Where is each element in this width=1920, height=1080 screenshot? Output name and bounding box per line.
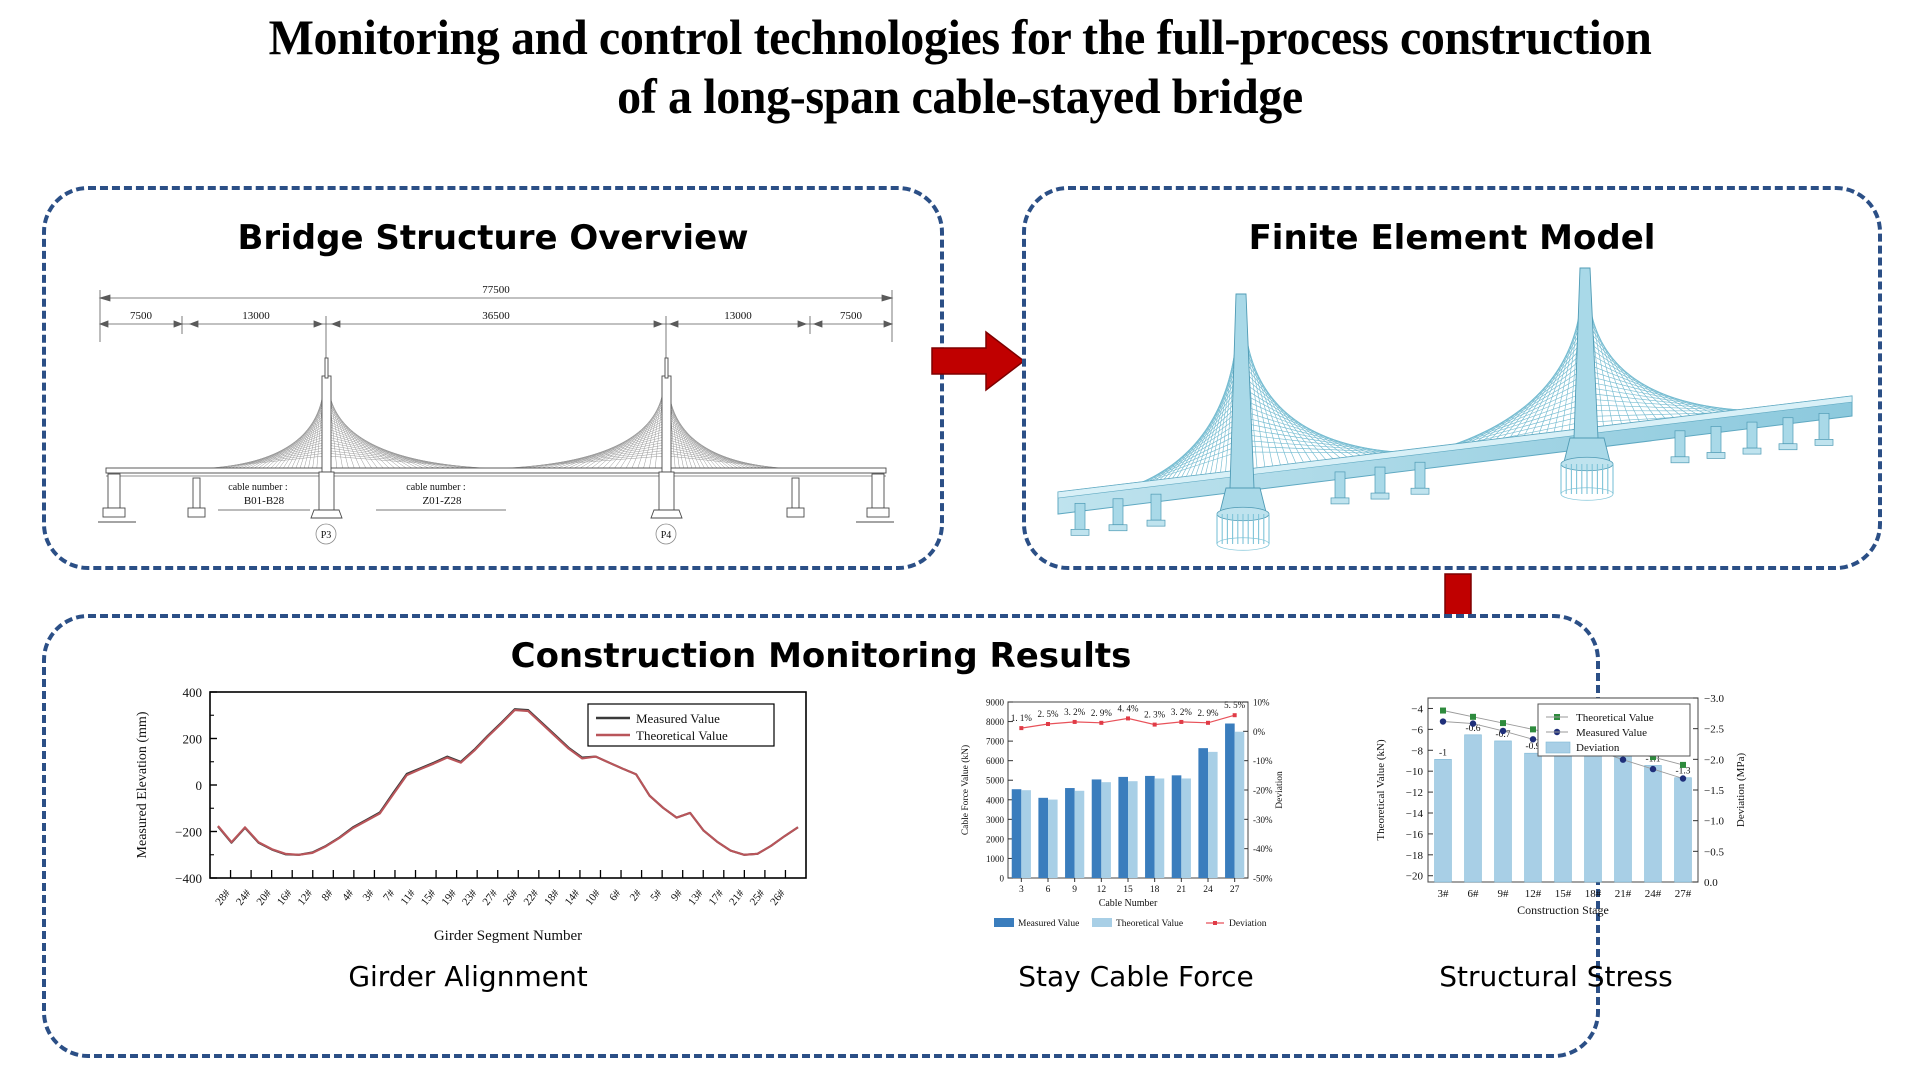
chart-girder-alignment: −400−2000200400Measured Elevation (mm)28…: [118, 682, 818, 950]
bridge-elevation-drawing: 77500 7500 13000 36500 13000 7500: [76, 272, 916, 552]
stress-xtick: 24#: [1645, 888, 1662, 900]
stress-bar-deviation: [1615, 753, 1632, 882]
dim-span-5: 7500: [840, 310, 863, 322]
stress-xtick: 27#: [1675, 888, 1692, 900]
girder-xtick: 7#: [381, 887, 398, 903]
cable-bar-measured: [1092, 779, 1102, 878]
stress-marker-theoretical: [1680, 762, 1686, 768]
stress-bar-deviation: [1495, 741, 1512, 882]
panel-construction-monitoring-results: Construction Monitoring Results −400−200…: [42, 614, 1600, 1058]
girder-xtick: 18#: [542, 887, 562, 908]
cable-bar-theoretical: [1101, 782, 1111, 878]
cable-ylabel: Cable Force Value (kN): [960, 745, 971, 835]
bridge-deck: [106, 468, 886, 476]
cable-xtick: 18: [1150, 885, 1160, 895]
cable-note-right-line1: cable number :: [406, 482, 465, 493]
cable-deviation-label: 3. 2%: [1064, 707, 1086, 717]
cable-deviation-label: 2. 9%: [1091, 708, 1113, 718]
poster-root: Monitoring and control technologies for …: [0, 0, 1920, 1080]
cable-bar-measured: [1012, 789, 1022, 878]
dim-span-1: 7500: [130, 310, 153, 322]
cable-xtick: 6: [1046, 885, 1051, 895]
girder-xtick: 16#: [275, 887, 295, 908]
finite-element-model-render: [1040, 256, 1872, 556]
cable-legend-label-theoretical: Theoretical Value: [1116, 919, 1183, 929]
cable-ytick: 0: [1000, 874, 1005, 884]
panel-bridge-structure-overview: Bridge Structure Overview: [42, 186, 944, 570]
stress-marker-theoretical: [1470, 714, 1476, 720]
cable-ytick: 1000: [986, 854, 1005, 864]
girder-xtick: 20#: [254, 887, 274, 908]
cable-note-right-line2: Z01-Z28: [422, 495, 462, 507]
stress-bar-deviation: [1555, 741, 1572, 882]
pier-tag-right-label: P4: [661, 530, 672, 541]
stress-y2label: Deviation (MPa): [1735, 753, 1747, 828]
cable-deviation-marker: [1019, 726, 1023, 730]
cable-xlabel: Cable Number: [1099, 898, 1158, 909]
girder-xtick: 26#: [768, 887, 788, 908]
girder-ytick: 400: [183, 685, 203, 700]
caption-structural-stress: Structural Stress: [1346, 960, 1766, 993]
stress-bar-deviation: [1525, 753, 1542, 882]
stress-marker-measured: [1680, 775, 1686, 781]
cable-deviation-label: 2. 5%: [1038, 709, 1060, 719]
fem-pile-group-left: [1217, 507, 1269, 550]
cable-deviation-label: 2. 9%: [1198, 708, 1220, 718]
cable-bar-theoretical: [1208, 752, 1218, 878]
caption-stay-cable-force: Stay Cable Force: [926, 960, 1346, 993]
dim-total-span: 77500: [482, 284, 510, 296]
cable-legend-swatch-theoretical: [1092, 918, 1112, 927]
stress-y2tick: −1.0: [1704, 816, 1724, 828]
cable-bar-theoretical: [1235, 732, 1245, 878]
stress-ytick: −12: [1406, 787, 1423, 799]
stress-legend-label-deviation: Deviation: [1576, 742, 1620, 754]
stress-marker-measured: [1470, 720, 1476, 726]
stress-y2tick: 0.0: [1704, 877, 1718, 889]
stress-xtick: 18#: [1585, 888, 1602, 900]
stress-xtick: 15#: [1555, 888, 1572, 900]
pier-tag-left: P3: [316, 524, 336, 544]
girder-xtick: 10#: [583, 887, 603, 908]
cable-y2tick: -20%: [1253, 786, 1273, 796]
cable-bar-theoretical: [1155, 778, 1165, 878]
fem-pile-group-right: [1561, 457, 1613, 500]
cable-xtick: 3: [1019, 885, 1024, 895]
cable-deviation-marker: [1153, 723, 1157, 727]
cable-bar-theoretical: [1075, 791, 1085, 878]
stress-ytick: −16: [1406, 829, 1424, 841]
girder-ytick: 0: [196, 778, 203, 793]
fem-deck: [1058, 396, 1852, 514]
girder-xtick: 27#: [480, 887, 500, 908]
cable-ytick: 7000: [986, 737, 1005, 747]
panel-fem-title: Finite Element Model: [1026, 218, 1878, 258]
girder-xtick: 23#: [460, 887, 480, 908]
cable-xtick: 9: [1072, 885, 1077, 895]
stress-bar-label: -1: [1439, 748, 1447, 758]
girder-xtick: 17#: [707, 887, 727, 908]
cable-note-left-line2: B01-B28: [244, 495, 285, 507]
cable-ytick: 3000: [986, 815, 1005, 825]
cable-bar-measured: [1118, 777, 1128, 878]
girder-xtick: 9#: [669, 887, 686, 903]
stress-legend-label-theoretical: Theoretical Value: [1576, 712, 1654, 724]
cable-deviation-marker: [1099, 721, 1103, 725]
stress-bar-deviation: [1435, 759, 1452, 882]
cable-deviation-label: 2. 3%: [1144, 710, 1166, 720]
stress-ytick: −8: [1411, 745, 1423, 757]
girder-xtick: 24#: [234, 887, 254, 908]
cable-deviation-label: 5. 5%: [1224, 700, 1246, 710]
cable-deviation-marker: [1046, 722, 1050, 726]
stress-ytick: −14: [1406, 808, 1424, 820]
cable-ytick: 2000: [986, 834, 1005, 844]
girder-xtick: 3#: [361, 887, 378, 903]
stress-marker-theoretical: [1440, 708, 1446, 714]
stress-xlabel: Construction Stage: [1517, 903, 1609, 917]
cable-legend-label-deviation: Deviation: [1229, 919, 1267, 929]
stress-xtick: 12#: [1525, 888, 1542, 900]
stress-ytick: −20: [1406, 871, 1424, 883]
arrow-right-icon: [930, 328, 1026, 394]
stress-marker-measured: [1500, 728, 1506, 734]
cable-deviation-marker: [1073, 720, 1077, 724]
girder-xtick: 14#: [563, 887, 583, 908]
girder-xtick: 19#: [439, 887, 459, 908]
chart-stay-cable-force: 0100020003000400050006000700080009000Cab…: [956, 682, 1316, 950]
cable-bar-theoretical: [1021, 790, 1031, 878]
cable-ytick: 6000: [986, 756, 1005, 766]
cable-y2tick: -40%: [1253, 844, 1273, 854]
dim-span-4: 13000: [724, 310, 752, 322]
cable-bar-measured: [1145, 776, 1155, 878]
cable-legend-label-measured: Measured Value: [1018, 919, 1079, 929]
girder-xtick: 12#: [296, 887, 316, 908]
stress-ylabel: Theoretical Value (kN): [1375, 739, 1387, 841]
stress-y2tick: −2.0: [1704, 754, 1724, 766]
cable-bar-measured: [1065, 788, 1075, 878]
cable-note-left-line1: cable number :: [228, 482, 287, 493]
stress-y2tick: −2.5: [1704, 724, 1724, 736]
girder-xtick: 13#: [686, 887, 706, 908]
pier-tag-right: P4: [656, 524, 676, 544]
cable-ytick: 5000: [986, 776, 1005, 786]
pier-tag-left-label: P3: [321, 530, 332, 541]
cable-deviation-label: 3. 2%: [1171, 707, 1193, 717]
cable-y2label: Deviation: [1275, 771, 1285, 809]
panel-bridge-title: Bridge Structure Overview: [46, 218, 940, 258]
cable-deviation-marker: [1233, 713, 1237, 717]
girder-xtick: 4#: [340, 887, 357, 903]
cable-y2tick: -50%: [1253, 874, 1273, 884]
panel-finite-element-model: Finite Element Model: [1022, 186, 1882, 570]
stress-marker-measured: [1530, 736, 1536, 742]
cable-xtick: 12: [1097, 885, 1107, 895]
cable-xtick: 21: [1177, 885, 1187, 895]
cable-legend-swatch-measured: [994, 918, 1014, 927]
cable-ytick: 8000: [986, 717, 1005, 727]
page-title-line1: Monitoring and control technologies for …: [38, 8, 1881, 67]
stress-ytick: −10: [1406, 766, 1424, 778]
girder-legend-label: Theoretical Value: [636, 728, 728, 743]
stress-xtick: 21#: [1615, 888, 1632, 900]
page-title: Monitoring and control technologies for …: [38, 8, 1881, 126]
stress-ytick: −6: [1411, 724, 1423, 736]
stress-marker-measured: [1440, 718, 1446, 724]
cable-xtick: 15: [1123, 885, 1133, 895]
cable-y2tick: 10%: [1253, 698, 1270, 708]
girder-xtick: 22#: [522, 887, 542, 908]
girder-ytick: 200: [183, 732, 203, 747]
cable-xtick: 24: [1203, 885, 1213, 895]
stress-marker-theoretical: [1500, 720, 1506, 726]
girder-xtick: 6#: [607, 887, 624, 903]
cable-deviation-marker: [1206, 721, 1210, 725]
girder-xtick: 8#: [319, 887, 336, 903]
stress-legend-label-measured: Measured Value: [1576, 727, 1647, 739]
cable-bar-theoretical: [1128, 781, 1138, 878]
stress-bar-deviation: [1585, 741, 1602, 882]
stress-xtick: 9#: [1498, 888, 1510, 900]
cable-bar-measured: [1225, 724, 1235, 878]
girder-xtick: 2#: [628, 887, 645, 903]
cable-deviation-label: 1. 1%: [1011, 713, 1033, 723]
stress-xtick: 3#: [1438, 888, 1450, 900]
panel-results-title: Construction Monitoring Results: [46, 636, 1596, 676]
stress-ytick: −4: [1411, 703, 1423, 715]
cable-deviation-label: 4. 4%: [1118, 703, 1140, 713]
girder-legend-label: Measured Value: [636, 711, 720, 726]
cable-deviation-marker: [1126, 716, 1130, 720]
cable-y2tick: -30%: [1253, 815, 1273, 825]
girder-xlabel: Girder Segment Number: [434, 928, 582, 944]
cable-ytick: 4000: [986, 795, 1005, 805]
fem-approach-piers: [1071, 413, 1833, 535]
page-title-line2: of a long-span cable-stayed bridge: [38, 67, 1881, 126]
stress-y2tick: −0.5: [1704, 846, 1724, 858]
girder-xtick: 28#: [213, 887, 233, 908]
girder-xtick: 25#: [748, 887, 768, 908]
girder-xtick: 21#: [727, 887, 747, 908]
cable-bar-measured: [1172, 775, 1182, 878]
cable-bar-measured: [1038, 798, 1048, 878]
stress-xtick: 6#: [1468, 888, 1480, 900]
dim-span-2: 13000: [242, 310, 270, 322]
caption-girder-alignment: Girder Alignment: [118, 960, 818, 993]
stress-marker-measured: [1650, 766, 1656, 772]
cable-y2tick: 0%: [1253, 727, 1266, 737]
girder-ylabel: Measured Elevation (mm): [135, 711, 150, 858]
cable-y2tick: -10%: [1253, 756, 1273, 766]
stress-ytick: −18: [1406, 850, 1424, 862]
stress-marker-theoretical: [1530, 726, 1536, 732]
cable-deviation-marker: [1179, 720, 1183, 724]
girder-ytick: −200: [175, 825, 202, 840]
bridge-piers: [103, 474, 889, 517]
cable-bar-theoretical: [1181, 778, 1191, 878]
cable-bar-measured: [1198, 748, 1208, 878]
dim-span-3: 36500: [482, 310, 510, 322]
stress-y2tick: −3.0: [1704, 693, 1724, 705]
girder-xtick: 26#: [501, 887, 521, 908]
girder-ytick: −400: [175, 871, 202, 886]
cable-bar-theoretical: [1048, 800, 1058, 878]
girder-xtick: 11#: [399, 887, 419, 907]
stress-y2tick: −1.5: [1704, 785, 1724, 797]
cable-ytick: 9000: [986, 698, 1005, 708]
chart-structural-stress: −4−6−8−10−12−14−16−18−20Theoretical Valu…: [1368, 682, 1768, 950]
stress-bar-label: -1.3: [1675, 767, 1690, 777]
girder-xtick: 15#: [419, 887, 439, 908]
girder-xtick: 5#: [648, 887, 665, 903]
stress-bar-deviation: [1645, 765, 1662, 882]
stress-bar-deviation: [1675, 778, 1692, 882]
stress-bar-deviation: [1465, 735, 1482, 882]
stress-marker-measured: [1620, 756, 1626, 762]
cable-xtick: 27: [1230, 885, 1240, 895]
